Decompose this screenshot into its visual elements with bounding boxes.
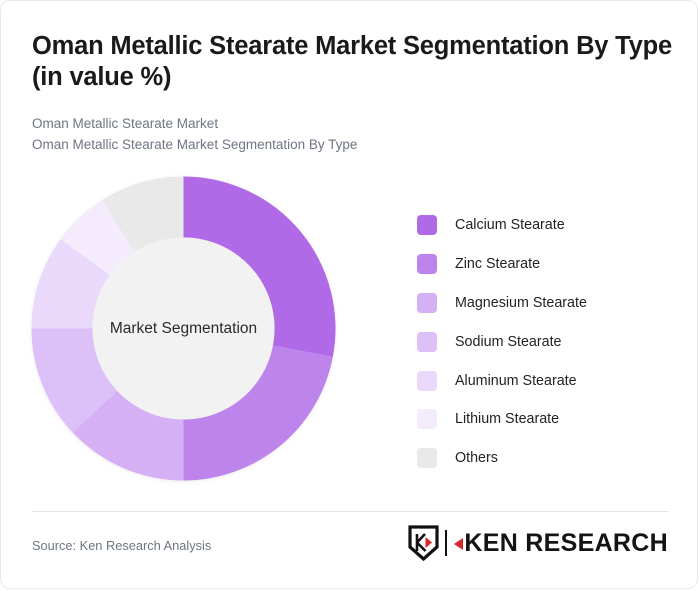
subtitle-segmentation: Oman Metallic Stearate Market Segmentati…	[32, 135, 652, 156]
donut-svg	[31, 176, 336, 481]
legend-item[interactable]: Magnesium Stearate	[417, 284, 682, 323]
subtitle-block: Oman Metallic Stearate Market Oman Metal…	[32, 114, 652, 156]
legend-item[interactable]: Sodium Stearate	[417, 322, 682, 361]
ken-research-logo: KEN RESEARCH	[408, 524, 668, 562]
legend-label: Zinc Stearate	[455, 256, 540, 272]
subtitle-market: Oman Metallic Stearate Market	[32, 114, 652, 135]
legend-label: Sodium Stearate	[455, 334, 562, 350]
chart-legend: Calcium StearateZinc StearateMagnesium S…	[417, 206, 682, 478]
logo-wordmark-text: KEN RESEARCH	[464, 529, 668, 557]
logo-wordmark: KEN RESEARCH	[454, 531, 668, 556]
source-text: Source: Ken Research Analysis	[32, 538, 211, 553]
donut-hole	[93, 238, 275, 420]
logo-red-triangle-icon	[454, 538, 463, 550]
chart-card: Oman Metallic Stearate Market Segmentati…	[0, 0, 698, 589]
legend-swatch-icon	[417, 215, 437, 235]
footer-divider	[32, 511, 669, 512]
legend-item[interactable]: Zinc Stearate	[417, 245, 682, 284]
legend-swatch-icon	[417, 448, 437, 468]
legend-swatch-icon	[417, 332, 437, 352]
legend-label: Calcium Stearate	[455, 217, 565, 233]
legend-item[interactable]: Lithium Stearate	[417, 400, 682, 439]
legend-swatch-icon	[417, 254, 437, 274]
chart-area: Market Segmentation Calcium StearateZinc…	[1, 161, 698, 491]
legend-swatch-icon	[417, 409, 437, 429]
legend-label: Others	[455, 450, 498, 466]
shield-logo-icon	[408, 525, 439, 561]
legend-item[interactable]: Others	[417, 439, 682, 478]
legend-label: Magnesium Stearate	[455, 295, 587, 311]
legend-item[interactable]: Calcium Stearate	[417, 206, 682, 245]
page-title: Oman Metallic Stearate Market Segmentati…	[32, 31, 672, 93]
legend-item[interactable]: Aluminum Stearate	[417, 361, 682, 400]
donut-chart: Market Segmentation	[31, 176, 336, 481]
legend-label: Lithium Stearate	[455, 411, 559, 427]
legend-label: Aluminum Stearate	[455, 373, 577, 389]
legend-swatch-icon	[417, 293, 437, 313]
logo-separator	[445, 530, 447, 556]
legend-swatch-icon	[417, 371, 437, 391]
